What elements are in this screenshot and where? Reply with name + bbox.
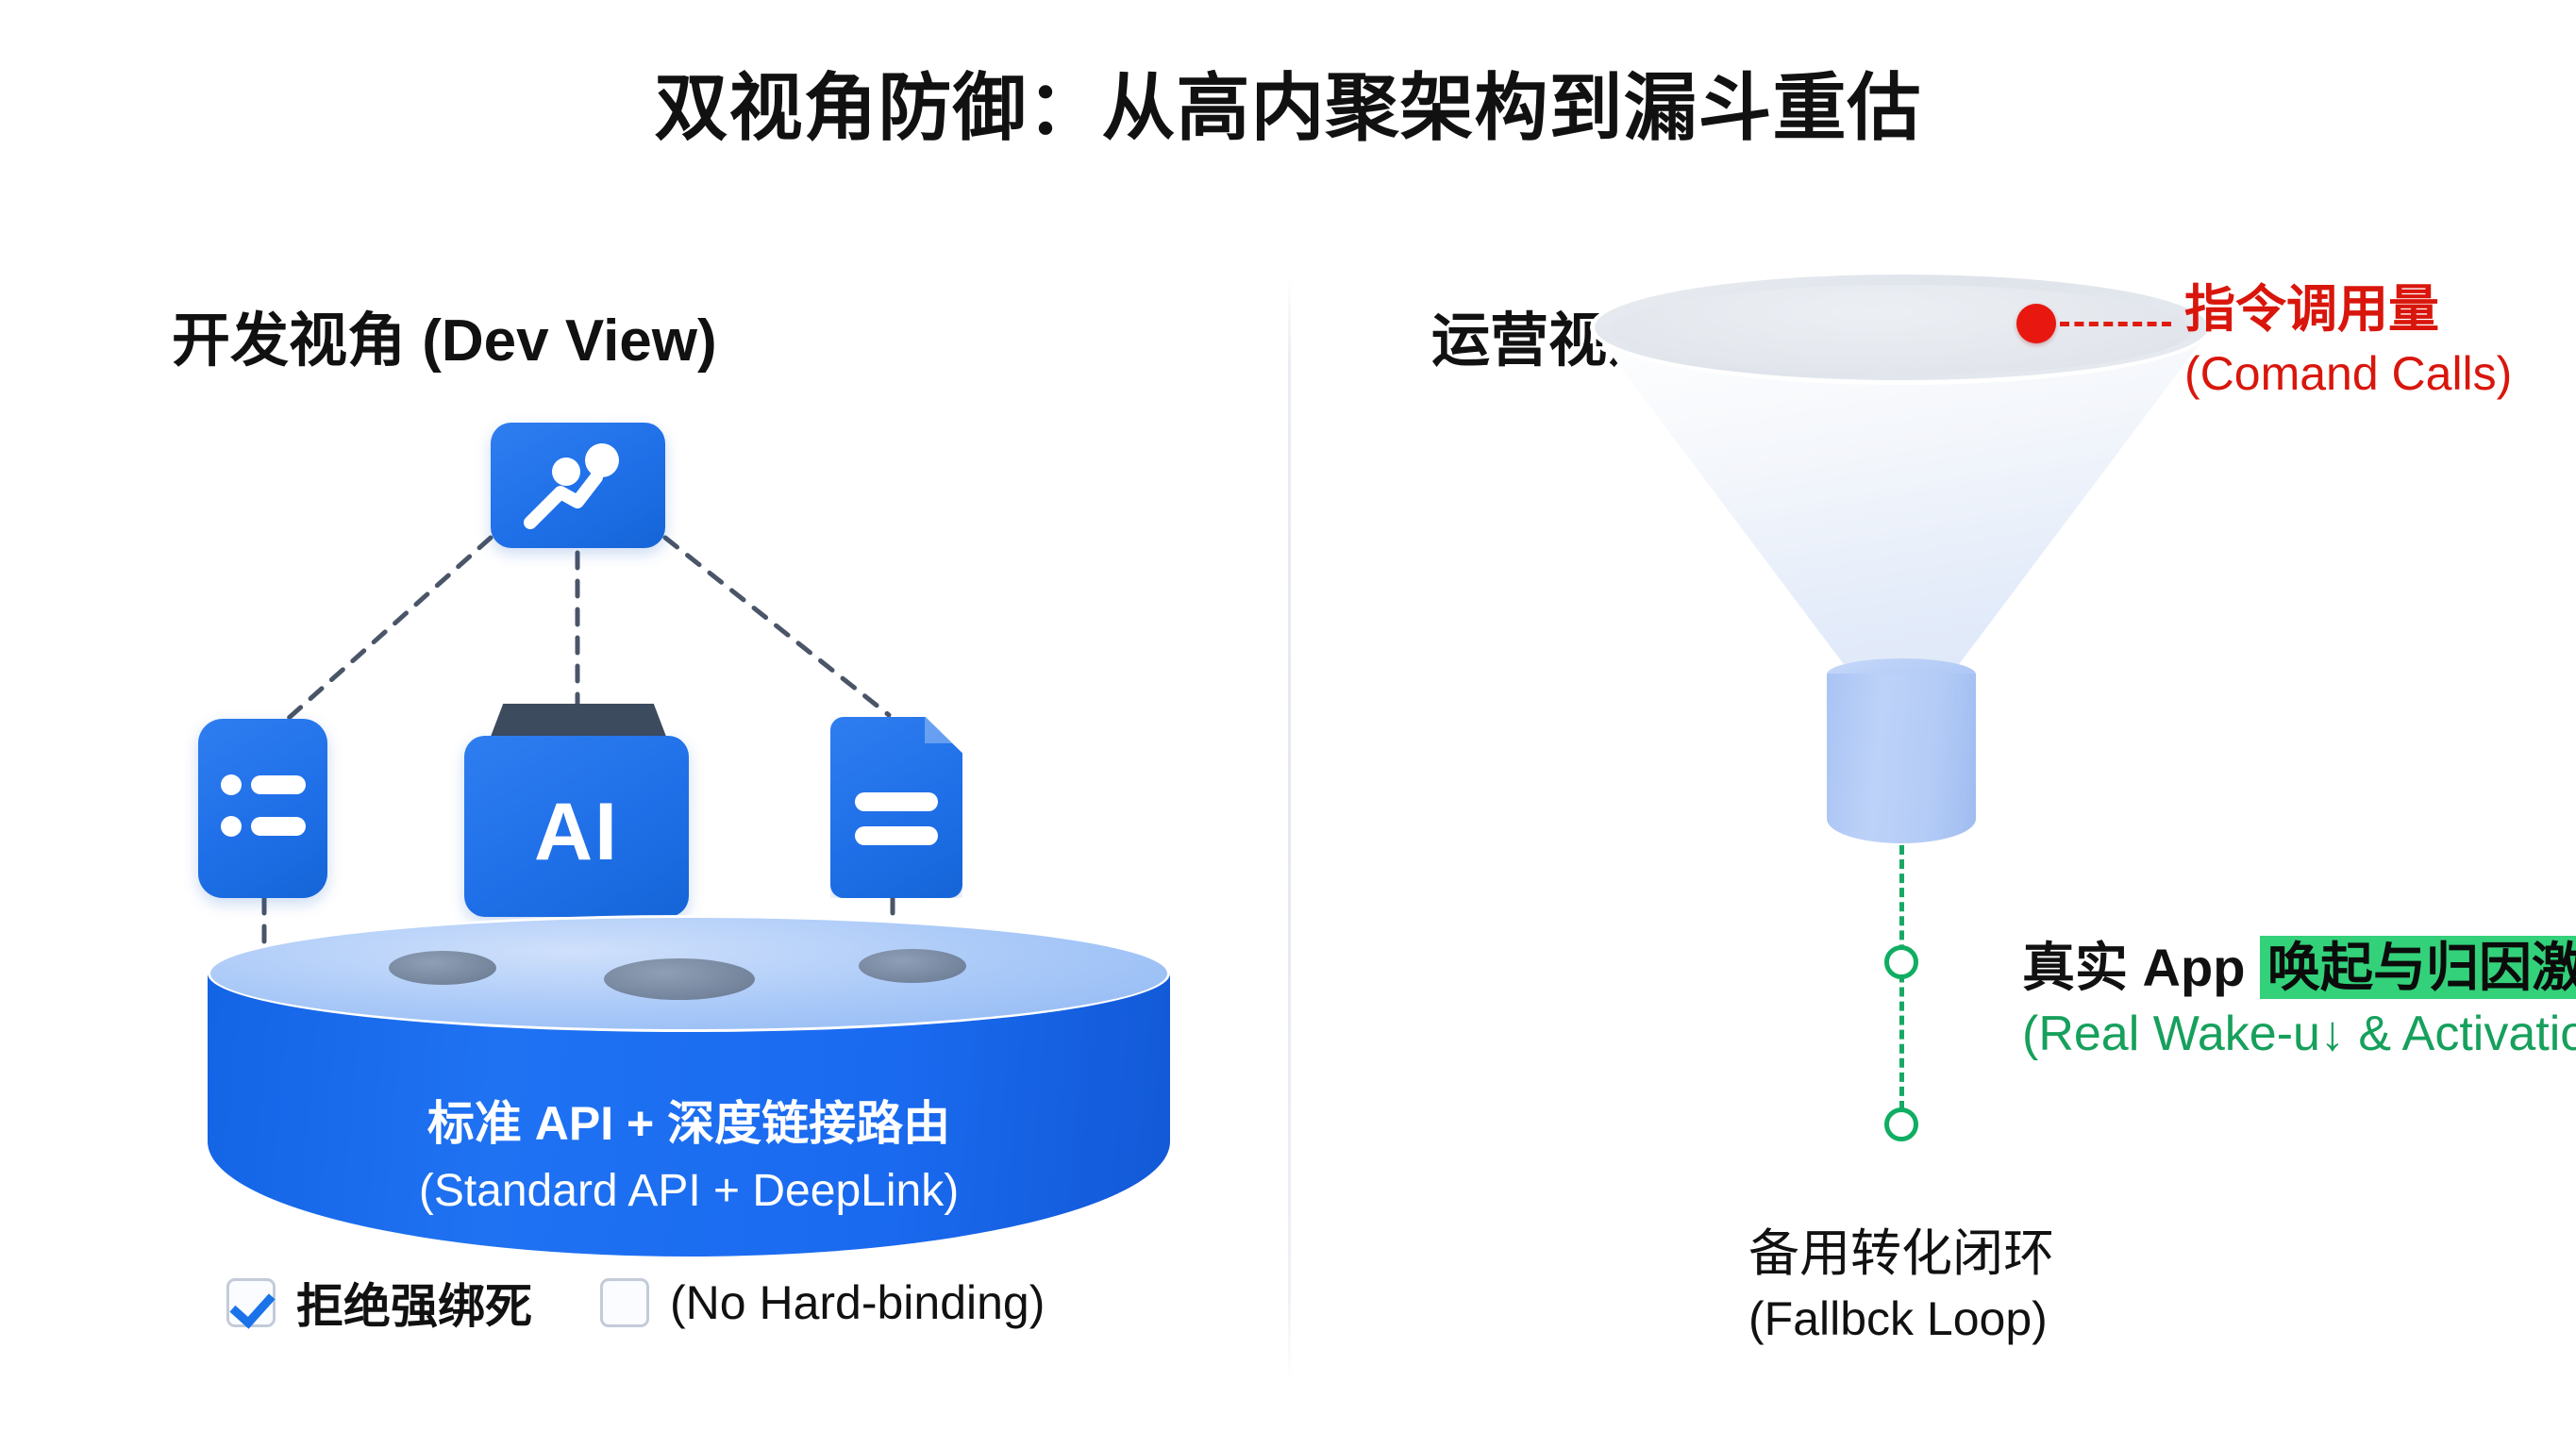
cylinder-slot-center bbox=[604, 958, 755, 1000]
dev-checkbox-row: 拒绝强绑死 (No Hard-binding) bbox=[226, 1269, 1045, 1337]
page-title: 双视角防御：从高内聚架构到漏斗重估 bbox=[0, 49, 2576, 155]
funnel-fallback-annotation: 备用转化闭环 (Fallbck Loop) bbox=[1748, 1223, 2054, 1348]
checkbox-no-hard-binding-unchecked[interactable] bbox=[600, 1278, 649, 1327]
cylinder-label: 标准 API + 深度链接路由 (Standard API + DeepLink… bbox=[208, 1092, 1170, 1222]
architecture-diagram: AI 标准 API + 深度链接路由 (Standard API bbox=[113, 415, 1170, 1113]
funnel-outflow-annotation: 真实 App 唤起与归因激活 (Real Wake-u↓ & Activatio… bbox=[2022, 936, 2576, 1064]
list-card[interactable] bbox=[198, 719, 327, 898]
ai-card[interactable]: AI bbox=[464, 736, 689, 917]
dev-panel-heading: 开发视角 (Dev View) bbox=[172, 292, 717, 377]
outflow-annotation-en: (Real Wake-u↓ & Activation) bbox=[2022, 1005, 2576, 1063]
bullet-list-icon bbox=[221, 768, 308, 845]
green-outflow-line bbox=[1899, 845, 1904, 1124]
red-dot-marker bbox=[2016, 304, 2056, 343]
document-lines-icon bbox=[855, 791, 938, 847]
funnel-diagram: 指令调用量 (Comand Calls) 真实 App 唤起与归因激活 (Rea… bbox=[1448, 291, 2543, 1404]
green-node-upper bbox=[1884, 945, 1918, 979]
checkbox-no-hard-binding-checked[interactable] bbox=[226, 1278, 276, 1327]
document-fold-corner bbox=[925, 717, 962, 743]
fallback-annotation-en: (Fallbck Loop) bbox=[1748, 1290, 2054, 1348]
funnel-top-annotation-cn: 指令调用量 bbox=[2184, 279, 2512, 341]
cylinder-label-en: (Standard API + DeepLink) bbox=[208, 1161, 1170, 1222]
slide-root: 双视角防御：从高内聚架构到漏斗重估 开发视角 (Dev View) bbox=[0, 0, 2576, 1448]
outflow-annotation-cn-prefix: 真实 App bbox=[2022, 938, 2260, 997]
green-node-lower bbox=[1884, 1107, 1918, 1141]
checkbox-label-en: (No Hard-binding) bbox=[670, 1275, 1045, 1330]
document-card[interactable] bbox=[830, 717, 962, 898]
funnel-top-annotation-en: (Comand Calls) bbox=[2184, 345, 2512, 403]
ops-view-panel: 运营视角 (Ops View) 指令调用量 (Comand Calls) 真实 … bbox=[1288, 274, 2576, 1406]
cylinder-slot-left bbox=[389, 951, 496, 985]
funnel-top-annotation: 指令调用量 (Comand Calls) bbox=[2184, 279, 2512, 403]
checkbox-label-cn: 拒绝强绑死 bbox=[296, 1269, 532, 1337]
outflow-annotation-cn: 真实 App 唤起与归因激活 bbox=[2022, 936, 2576, 999]
funnel-stem bbox=[1827, 674, 1976, 843]
funnel-mouth-surface bbox=[1611, 285, 2192, 375]
trend-chart-icon bbox=[523, 443, 634, 530]
cylinder-label-cn: 标准 API + 深度链接路由 bbox=[208, 1092, 1170, 1156]
fallback-annotation-cn: 备用转化闭环 bbox=[1748, 1223, 2054, 1286]
outflow-annotation-cn-highlight: 唤起与归因激活 bbox=[2260, 936, 2576, 999]
analytics-card[interactable] bbox=[491, 423, 665, 548]
red-leader-line bbox=[2060, 322, 2171, 326]
cylinder-slot-right bbox=[859, 949, 966, 983]
dev-view-panel: 开发视角 (Dev View) bbox=[0, 274, 1288, 1406]
platform-cylinder: 标准 API + 深度链接路由 (Standard API + DeepLink… bbox=[208, 915, 1170, 1321]
ai-card-label: AI bbox=[534, 791, 619, 873]
